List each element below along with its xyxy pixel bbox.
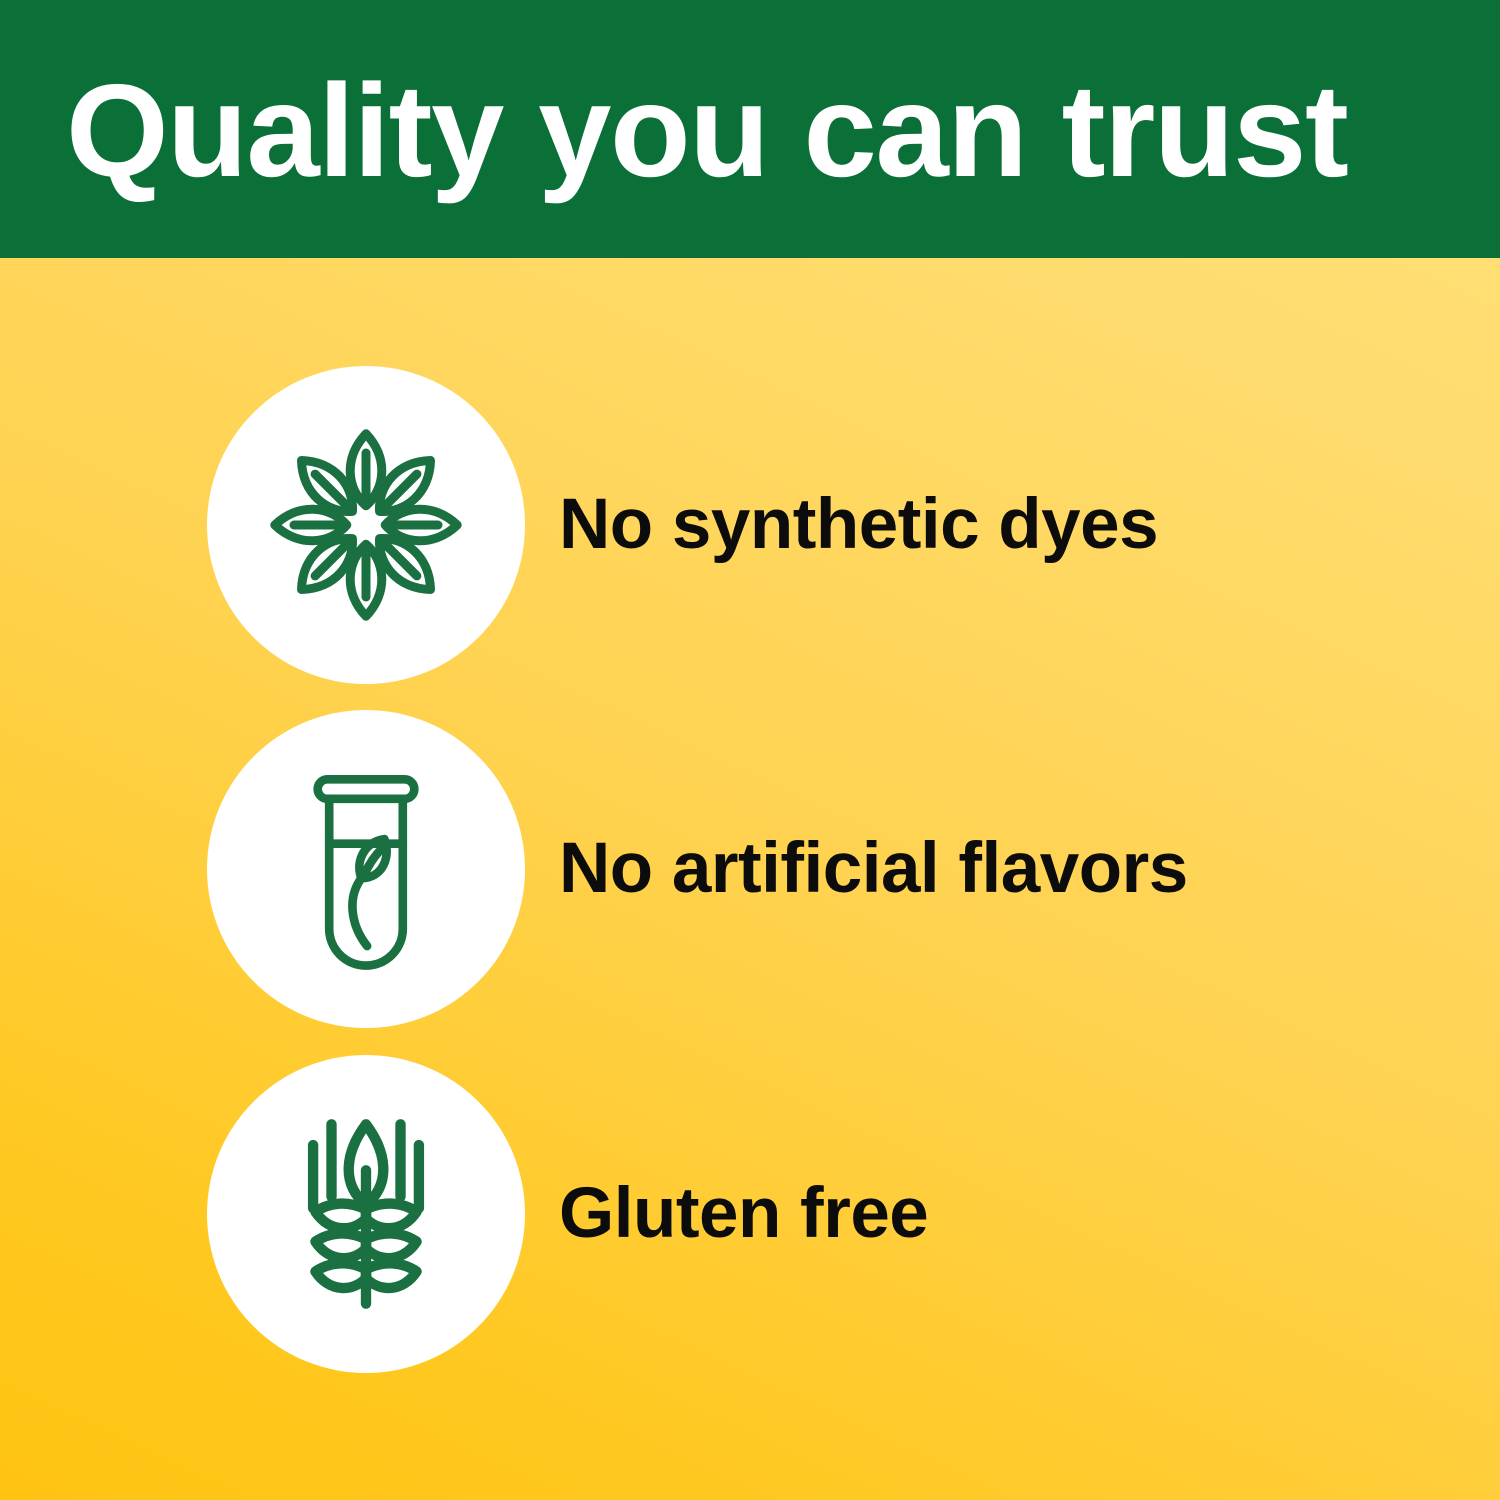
page-title: Quality you can trust: [66, 62, 1456, 200]
feature-row: Gluten free: [0, 1054, 1500, 1374]
wheat-stalk-icon: [251, 1099, 481, 1329]
feature-row: No synthetic dyes: [0, 365, 1500, 685]
quality-claims-panel: Quality you can trust: [0, 0, 1500, 1500]
icon-badge: [207, 710, 525, 1028]
flower-petals-icon: [246, 405, 486, 645]
feature-label: Gluten free: [559, 1176, 928, 1252]
feature-list: No synthetic dyes: [0, 258, 1500, 1500]
feature-label: No artificial flavors: [559, 831, 1188, 907]
icon-badge: [207, 366, 525, 684]
icon-badge: [207, 1055, 525, 1373]
test-tube-leaf-icon: [251, 754, 481, 984]
header-band: Quality you can trust: [0, 0, 1500, 258]
feature-row: No artificial flavors: [0, 709, 1500, 1029]
feature-label: No synthetic dyes: [559, 487, 1158, 563]
